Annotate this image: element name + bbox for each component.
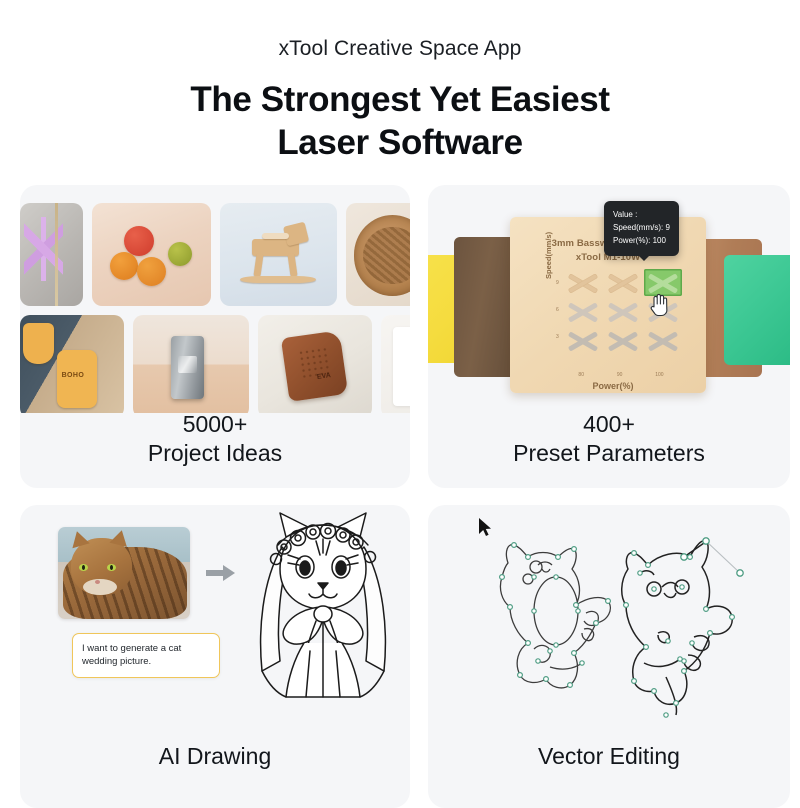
card-caption-preset-parameters: 400+ Preset Parameters (428, 410, 790, 488)
param-cell-r2c1[interactable] (604, 327, 642, 354)
param-cell-r1c0[interactable] (564, 298, 602, 325)
material-test-visual: 3mm Basswoodplywood xTool M1-10W Speed(m… (428, 185, 790, 413)
pouch-engraved-text: EVA (317, 372, 332, 381)
arrow-pointer-cursor-icon (478, 517, 494, 537)
card-caption-project-ideas: 5000+ Project Ideas (20, 410, 410, 488)
parameter-matrix: Speed(mm/s) 9 6 3 (546, 269, 680, 367)
project-ideas-label: Project Ideas (148, 439, 282, 469)
x-axis-label: Power(%) (546, 381, 680, 391)
thumb-engraved-metal-lighter[interactable] (133, 315, 249, 413)
thumb-engraved-leather-pouch[interactable]: EVA (258, 315, 372, 413)
x-tick-2: 100 (655, 372, 663, 378)
source-cat-photo[interactable] (58, 527, 190, 619)
param-cell-r0c0[interactable] (564, 269, 602, 296)
param-cell-r2c0[interactable] (564, 327, 602, 354)
vector-editing-label: Vector Editing (538, 730, 680, 771)
ai-drawing-label: AI Drawing (159, 730, 271, 771)
card-caption-vector-editing: Vector Editing (428, 730, 790, 808)
param-cell-r0c2-selected[interactable] (644, 269, 682, 296)
swatch-green-acrylic (724, 255, 790, 365)
y-axis-ticks: 9 6 3 (556, 269, 559, 351)
gallery-row-1 (20, 203, 410, 306)
arrow-right-icon (206, 563, 236, 583)
thumb-carved-wooden-bowl[interactable] (346, 203, 410, 306)
tooltip-power: Power(%): 100 (613, 234, 670, 247)
x-tick-1: 90 (617, 372, 623, 378)
card-caption-ai-drawing: AI Drawing (20, 730, 410, 808)
param-cell-r2c2[interactable] (644, 327, 682, 354)
param-cell-r0c1[interactable] (604, 269, 642, 296)
thumb-purple-acrylic-snowflake-ornaments[interactable] (20, 203, 83, 306)
preset-parameters-label: Preset Parameters (513, 439, 705, 469)
cat-bride-line-art (238, 511, 408, 706)
x-tick-0: 80 (578, 372, 584, 378)
page-header: xTool Creative Space App The Strongest Y… (0, 0, 800, 165)
ai-prompt-box[interactable]: I want to generate a cat wedding picture… (72, 633, 220, 678)
y-tick-1: 6 (556, 307, 559, 313)
card-ai-drawing[interactable]: I want to generate a cat wedding picture… (20, 505, 410, 808)
two-cats-vector-outline[interactable] (478, 517, 750, 723)
bezier-handle (706, 541, 740, 573)
parameter-tooltip: Value : Speed(mm/s): 9 Power(%): 100 (604, 201, 679, 256)
ai-drawing-visual: I want to generate a cat wedding picture… (20, 505, 410, 733)
y-tick-2: 3 (556, 334, 559, 340)
card-project-ideas[interactable]: BOHO EVA (20, 185, 410, 488)
tooltip-speed: Speed(mm/s): 9 (613, 221, 670, 234)
tooltip-title: Value : (613, 208, 670, 221)
project-gallery: BOHO EVA (20, 185, 410, 413)
promo-page: xTool Creative Space App The Strongest Y… (0, 0, 800, 800)
page-eyebrow: xTool Creative Space App (0, 36, 800, 62)
page-title-line1: The Strongest Yet Easiest (0, 79, 800, 122)
card-vector-editing[interactable]: Vector Editing (428, 505, 790, 808)
thumb-leather-animal-keychains[interactable]: BOHO (20, 315, 124, 413)
gallery-row-2: BOHO EVA (20, 315, 410, 413)
hand-cursor-icon (649, 293, 669, 317)
x-axis-ticks: 80 90 100 (562, 372, 680, 378)
y-tick-0: 9 (556, 280, 559, 286)
page-title-line2: Laser Software (0, 122, 800, 165)
thumb-white-product-card[interactable] (381, 315, 410, 413)
card-preset-parameters[interactable]: 3mm Basswoodplywood xTool M1-10W Speed(m… (428, 185, 790, 488)
preset-parameters-count: 400+ (583, 410, 635, 439)
project-ideas-count: 5000+ (183, 410, 248, 439)
feature-card-grid: BOHO EVA (20, 185, 790, 808)
vector-editing-visual (428, 505, 790, 733)
page-title: The Strongest Yet Easiest Laser Software (0, 79, 800, 164)
param-cell-r1c1[interactable] (604, 298, 642, 325)
thumb-wooden-rocking-horse-model[interactable] (220, 203, 337, 306)
thumb-engraved-orange-macarons[interactable] (92, 203, 211, 306)
y-axis-label: Speed(mm/s) (544, 232, 553, 279)
keychain-engraved-text: BOHO (62, 372, 85, 379)
